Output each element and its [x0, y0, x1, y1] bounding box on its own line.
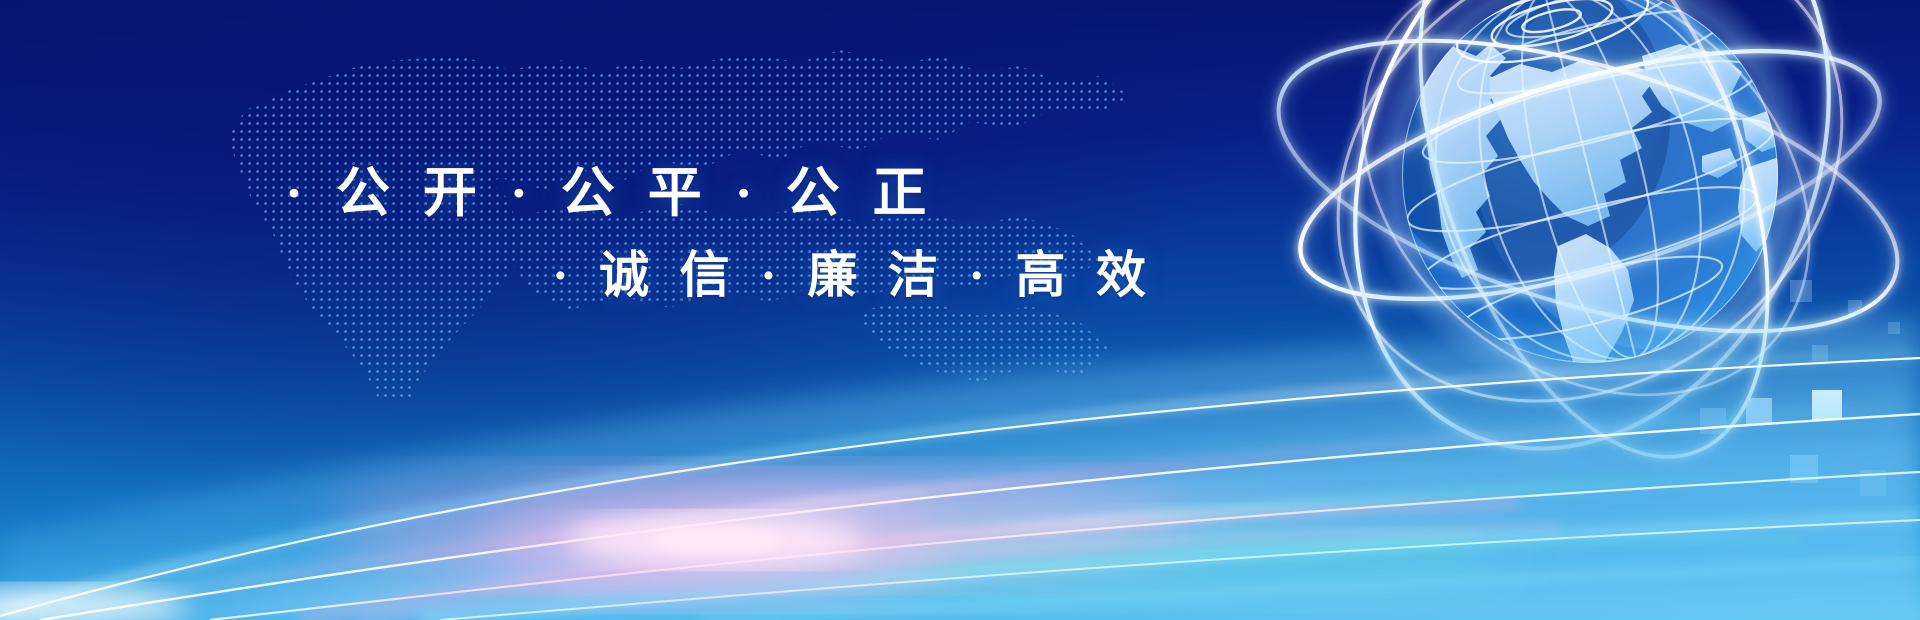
slogan-line-1: · 公 开 · 公 平 · 公 正	[285, 148, 936, 227]
light-swoosh-graphic	[0, 290, 1920, 620]
banner-root: · 公 开 · 公 平 · 公 正 · 诚 信 · 廉 洁 · 高 效	[0, 0, 1920, 620]
slogan-block: · 公 开 · 公 平 · 公 正 · 诚 信 · 廉 洁 · 高 效	[0, 0, 1200, 340]
